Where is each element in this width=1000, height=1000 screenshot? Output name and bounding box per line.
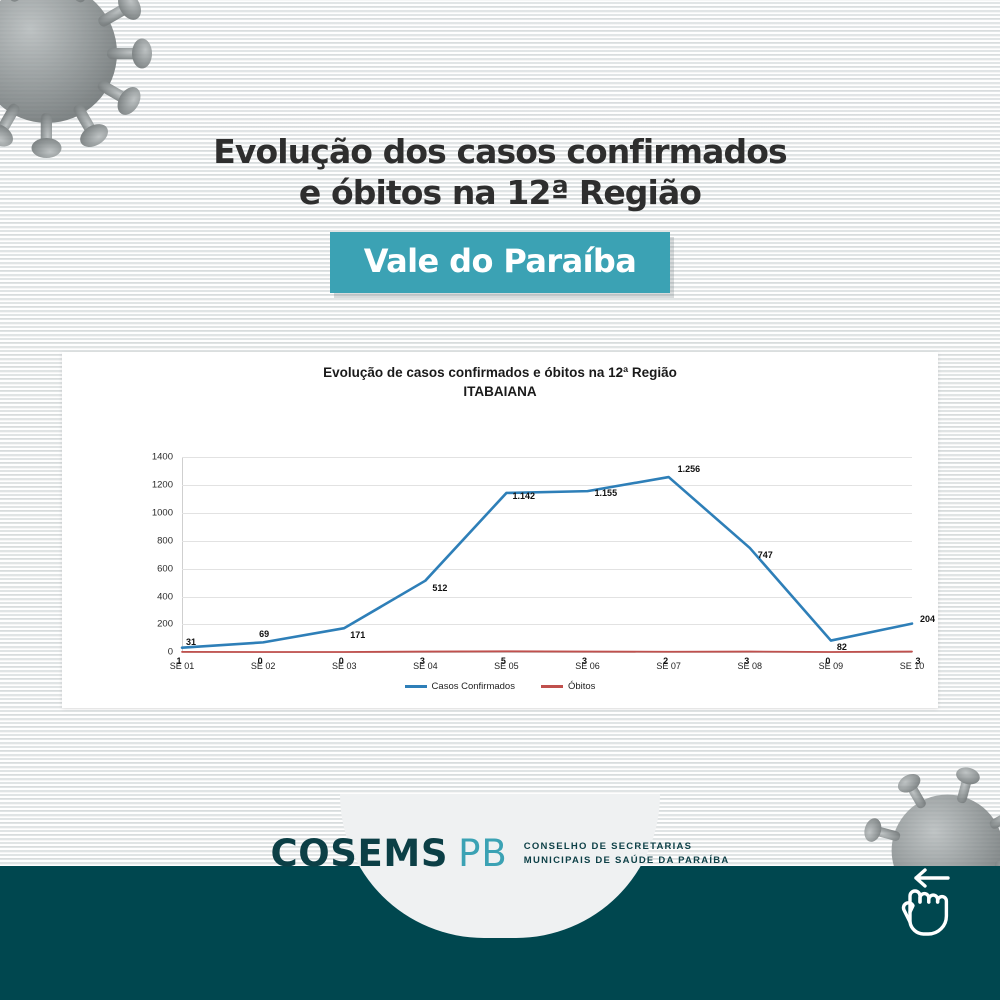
series-line [182,652,912,653]
data-point-label: 3 [420,656,425,666]
data-point-label: 171 [350,630,365,640]
data-point-label: 0 [258,656,263,666]
data-point-label: 5 [501,656,506,666]
legend-color-swatch [541,685,563,688]
data-point-label: 512 [432,583,447,593]
data-point-label: 1.142 [512,491,535,501]
x-axis-tick-label: SE 07 [656,661,681,671]
data-point-label: 1.155 [595,488,618,498]
x-axis-tick-label: SE 08 [738,661,763,671]
logo-pb-text: PB [458,832,508,875]
data-point-label: 3 [915,656,920,666]
x-axis-tick-label: SE 05 [494,661,519,671]
x-axis-tick-label: SE 02 [251,661,276,671]
y-axis-tick-label: 1000 [152,507,173,518]
data-point-label: 3 [744,656,749,666]
data-point-label: 204 [920,614,935,624]
chart-card: Evolução de casos confirmados e óbitos n… [62,352,938,708]
x-axis-tick-label: SE 01 [170,661,195,671]
chart-title: Evolução de casos confirmados e óbitos n… [62,352,938,401]
data-point-label: 69 [259,629,269,639]
headline-line-2: e óbitos na 12ª Região [0,173,1000,214]
data-point-label: 0 [339,656,344,666]
chart-title-line-1: Evolução de casos confirmados e óbitos n… [62,364,938,383]
series-line [182,477,912,648]
plot-wrapper: 0200400600800100012001400 SE 01SE 02SE 0… [62,401,938,659]
poster-headline: Evolução dos casos confirmados e óbitos … [0,132,1000,293]
legend-item[interactable]: Casos Confirmados [405,681,515,692]
logo-subtitle-line-1: CONSELHO DE SECRETARIAS [524,841,692,852]
region-banner-label: Vale do Paraíba [364,242,637,280]
legend-item[interactable]: Óbitos [541,681,595,692]
data-point-label: 3 [582,656,587,666]
logo-subtitle-line-2: MUNICIPAIS DE SAÚDE DA PARAÍBA [524,855,730,866]
plot-area: 0200400600800100012001400 SE 01SE 02SE 0… [182,457,912,652]
region-banner: Vale do Paraíba [330,232,671,293]
y-axis-tick-label: 1200 [152,480,173,491]
data-point-label: 747 [758,550,773,560]
y-axis-tick-label: 1400 [152,452,173,463]
y-axis-tick-label: 200 [157,619,173,630]
headline-line-1: Evolução dos casos confirmados [0,132,1000,173]
data-point-label: 82 [837,642,847,652]
y-axis-tick-label: 400 [157,591,173,602]
legend-color-swatch [405,685,427,688]
data-point-label: 1.256 [678,464,701,474]
swipe-left-hand-icon[interactable] [886,862,972,942]
logo-subtitle: CONSELHO DE SECRETARIAS MUNICIPAIS DE SA… [524,840,730,868]
chart-legend: Casos ConfirmadosÓbitos [62,681,938,692]
cosems-logo: COSEMS PB CONSELHO DE SECRETARIAS MUNICI… [0,832,1000,875]
data-point-label: 2 [663,656,668,666]
x-axis-tick-label: SE 10 [900,661,925,671]
logo-cosems-text: COSEMS [270,832,448,875]
x-axis-tick-label: SE 04 [413,661,438,671]
y-axis-tick-label: 0 [168,647,173,658]
x-axis-tick-label: SE 03 [332,661,357,671]
y-axis-tick-label: 800 [157,535,173,546]
legend-label: Óbitos [568,681,595,692]
data-point-label: 31 [186,637,196,647]
data-point-label: 1 [176,656,181,666]
legend-label: Casos Confirmados [432,681,515,692]
series-lines [182,457,912,652]
data-point-label: 0 [825,656,830,666]
x-axis-tick-label: SE 06 [575,661,600,671]
chart-title-line-2: ITABAIANA [62,383,938,402]
y-axis-tick-label: 600 [157,563,173,574]
x-axis-tick-label: SE 09 [819,661,844,671]
